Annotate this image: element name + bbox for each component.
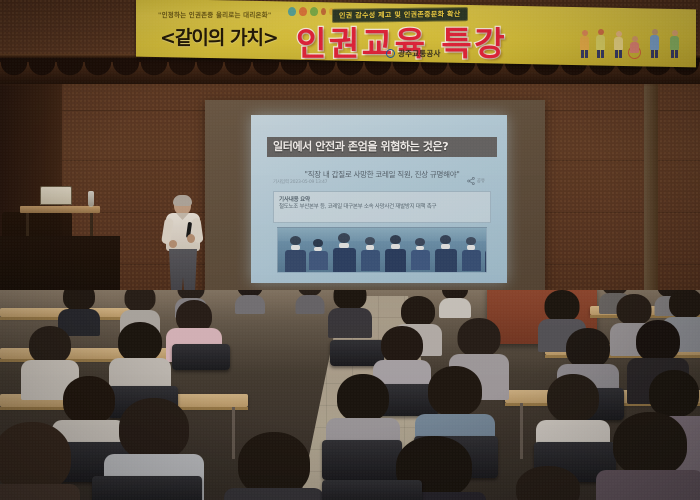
share-icon: 공유 <box>467 177 485 185</box>
event-banner: "인정하는 인권존중 울리로는 대리온화" 인권 감수성 제고 및 인권존중문화… <box>136 0 696 67</box>
share-label: 공유 <box>477 178 485 184</box>
presentation-slide: 일터에서 안전과 존엄을 위협하는 것은? "직장 내 갑질로 사망한 코레일 … <box>251 115 507 283</box>
scalloped-drape <box>0 62 700 86</box>
organization-logo: 광주교통공사 <box>386 48 441 59</box>
presenter-hair <box>173 195 192 206</box>
banner-left-title: <같이의 가치> <box>160 23 278 50</box>
audience-person <box>440 290 470 318</box>
organization-name: 광주교통공사 <box>398 48 441 59</box>
banner-top-slogan: "인정하는 인권존중 울리로는 대리온화" <box>158 9 271 19</box>
audience-person <box>600 412 700 500</box>
audience-person <box>296 290 324 314</box>
logo-circle-icon <box>386 49 395 58</box>
chair <box>92 476 202 500</box>
chair <box>172 344 230 370</box>
banner-people-icons <box>288 7 334 16</box>
presenter-table <box>20 206 100 213</box>
slide-news-byline: 기사입력 2023-05-09 13:47 <box>273 179 327 185</box>
audience-person <box>228 432 320 500</box>
chair <box>322 480 422 500</box>
presenter <box>160 196 206 300</box>
slide-news-photo <box>277 227 487 273</box>
slide-summary-box: 기사내용 요약 철도노조 부산본부 등, 코레일 대구본부 소속 사망사건 재발… <box>273 191 491 223</box>
water-bottle <box>88 191 94 207</box>
lecture-hall-photo: "인정하는 인권존중 울리로는 대리온화" 인권 감수성 제고 및 인권존중문화… <box>0 0 700 500</box>
audience-person <box>330 290 370 338</box>
banner-illustration <box>574 12 692 60</box>
laptop-icon <box>38 186 74 207</box>
audience-area <box>0 290 700 500</box>
audience-person-woman <box>0 422 78 500</box>
summary-title: 기사내용 요약 <box>279 195 310 203</box>
audience-person <box>508 466 588 500</box>
slide-title: 일터에서 안전과 존엄을 위협하는 것은? <box>267 137 497 157</box>
summary-body: 철도노조 부산본부 등, 코레일 대구본부 소속 사망사건 재발방지 대책 촉구 <box>279 203 486 211</box>
audience-person <box>236 290 264 314</box>
